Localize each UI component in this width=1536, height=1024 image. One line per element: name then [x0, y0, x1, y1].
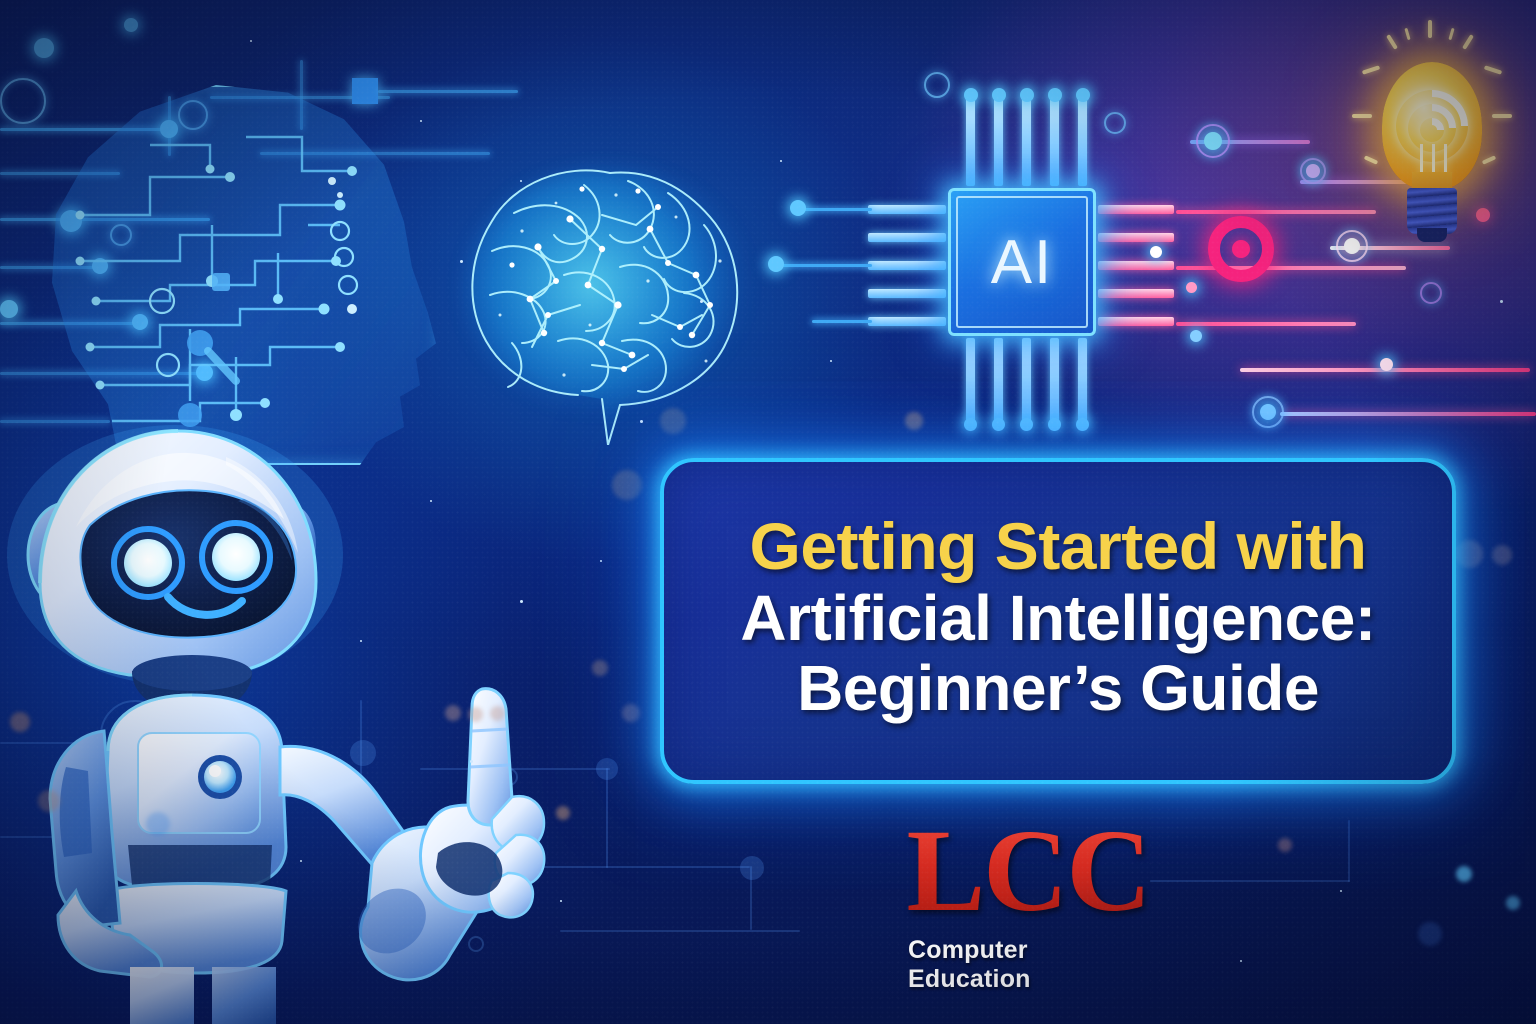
poster-canvas: AI	[0, 0, 1536, 1024]
bulb-tip	[1417, 228, 1447, 242]
title-banner: Getting Started with Artificial Intellig…	[660, 458, 1456, 784]
chip-label: AI	[948, 188, 1096, 336]
robot-svg	[0, 395, 620, 1024]
idea-lightbulb	[1376, 62, 1488, 242]
logo-mark: LCC	[906, 812, 1149, 930]
ai-chip: AI	[948, 188, 1096, 336]
lcc-logo: LCC Computer Education	[908, 812, 1148, 974]
logo-subtitle: Computer Education	[908, 936, 1148, 994]
title-line-2: Artificial Intelligence:	[690, 585, 1426, 652]
robot-mascot	[0, 395, 620, 1024]
title-line-3: Beginner’s Guide	[690, 655, 1426, 722]
title-line-1: Getting Started with	[690, 512, 1426, 581]
